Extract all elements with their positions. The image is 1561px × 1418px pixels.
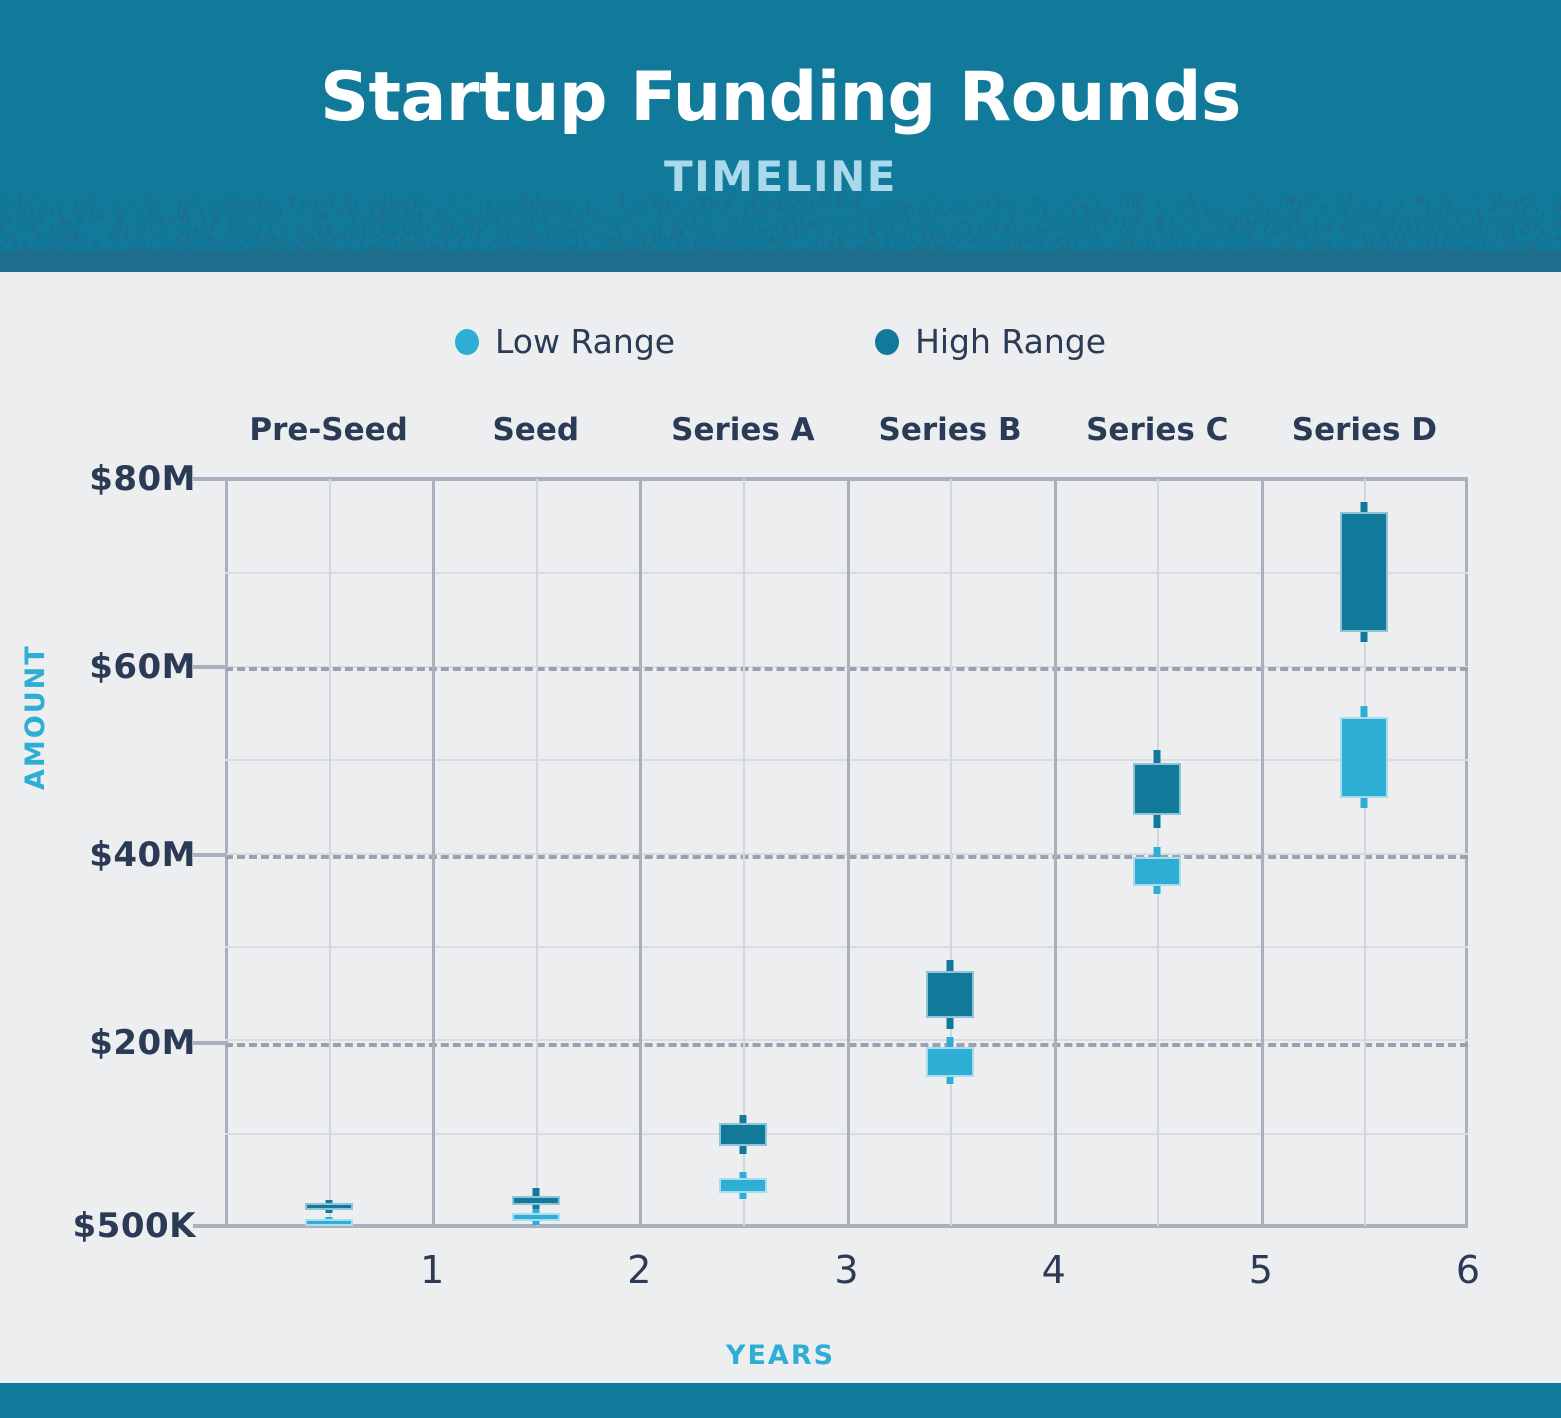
y-tick-mark [193,1224,227,1228]
legend-dot-icon-high [875,329,899,355]
x-tick-label: 3 [834,1248,858,1292]
x-tick-label: 2 [627,1248,651,1292]
candle-low-series-b[interactable] [910,479,990,1226]
v-gridline-major [1054,479,1057,1226]
chart-legend: Low Range High Range [0,322,1561,378]
legend-dot-icon-low [455,329,479,355]
candle-low-series-c[interactable] [1117,479,1197,1226]
v-gridline-major [847,479,850,1226]
footer-band [0,1383,1561,1418]
chart-page: Startup Funding Rounds TIMELINE Low Rang… [0,0,1561,1418]
candle-body [926,1047,974,1076]
candle-low-seed[interactable] [496,479,576,1226]
category-header-row: Pre-SeedSeedSeries ASeries BSeries CSeri… [0,412,1561,458]
v-gridline-major [432,479,435,1226]
x-tick-label: 5 [1249,1248,1273,1292]
y-tick-label: $20M [89,1023,196,1063]
v-gridline-major [1261,479,1264,1226]
x-tick-label: 1 [420,1248,444,1292]
candle-low-series-d[interactable] [1324,479,1404,1226]
candle-body [719,1178,767,1193]
category-label-series-c: Series C [1086,412,1228,448]
page-title: Startup Funding Rounds [0,58,1561,137]
x-axis-title: YEARS [0,1340,1561,1371]
y-tick-mark [193,1041,227,1045]
category-label-series-b: Series B [878,412,1021,448]
y-tick-label: $500K [73,1206,196,1246]
plot-border-top [210,477,1468,481]
y-tick-label: $40M [89,835,196,875]
category-label-pre-seed: Pre-Seed [249,412,407,448]
plot-border-bottom [210,1224,1468,1228]
candle-body [1133,857,1181,886]
legend-label-high: High Range [915,322,1106,361]
header-banner: Startup Funding Rounds TIMELINE [0,0,1561,272]
y-tick-mark [193,665,227,669]
legend-item-low-range[interactable]: Low Range [455,322,675,361]
x-tick-label: 6 [1456,1248,1480,1292]
header-bottom-band [0,250,1561,272]
candle-low-pre-seed[interactable] [289,479,369,1226]
category-label-series-a: Series A [671,412,815,448]
plot-area [225,479,1468,1226]
legend-label-low: Low Range [495,322,675,361]
v-gridline-major [639,479,642,1226]
candle-low-series-a[interactable] [703,479,783,1226]
candle-body [512,1213,560,1221]
y-tick-mark [193,853,227,857]
y-tick-label: $80M [89,459,196,499]
y-axis-title: AMOUNT [20,644,51,790]
legend-item-high-range[interactable]: High Range [875,322,1106,361]
category-label-series-d: Series D [1292,412,1437,448]
category-label-seed: Seed [492,412,579,448]
y-tick-label: $60M [89,647,196,687]
x-tick-label: 4 [1042,1248,1066,1292]
candle-body [305,1219,353,1226]
candle-body [1340,717,1388,799]
y-tick-mark [193,477,227,481]
